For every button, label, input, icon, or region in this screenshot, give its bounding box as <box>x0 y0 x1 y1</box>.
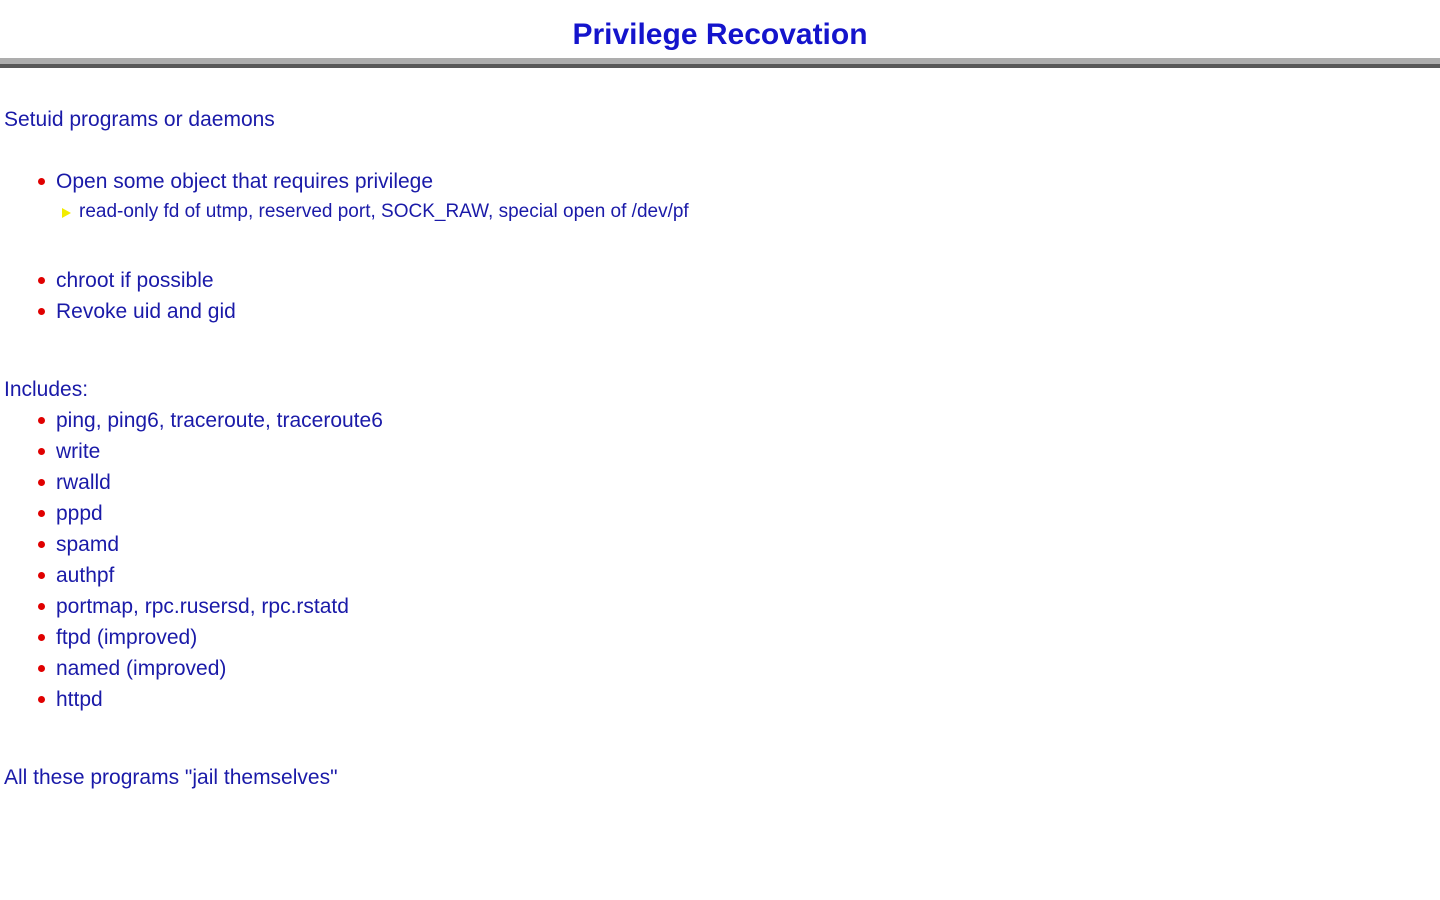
intro-heading: Setuid programs or daemons <box>0 104 1440 135</box>
list-item-label: portmap, rpc.rusersd, rpc.rstatd <box>56 595 349 618</box>
bullet-dot-icon <box>38 417 45 424</box>
setuid-steps-list-continued: chroot if possible Revoke uid and gid <box>0 265 1440 327</box>
list-item-label: ping, ping6, traceroute, traceroute6 <box>56 409 383 432</box>
list-item-label: pppd <box>56 502 103 525</box>
includes-list: ping, ping6, traceroute, traceroute6 wri… <box>0 405 1440 715</box>
title-divider-dark-band <box>0 64 1440 68</box>
sub-list-item-label: read-only fd of utmp, reserved port, SOC… <box>79 201 689 222</box>
bullet-dot-icon <box>38 572 45 579</box>
list-item-label: authpf <box>56 564 114 587</box>
list-item-label: httpd <box>56 688 103 711</box>
spacer <box>0 358 1440 374</box>
bullet-dot-icon <box>38 308 45 315</box>
slide-title: Privilege Recovation <box>0 16 1440 54</box>
list-item: chroot if possible <box>0 265 1440 296</box>
list-item: ftpd (improved) <box>0 622 1440 653</box>
list-item: Open some object that requires privilege <box>0 166 1440 197</box>
bullet-dot-icon <box>38 634 45 641</box>
sub-list-item: read-only fd of utmp, reserved port, SOC… <box>0 197 1440 227</box>
setuid-steps-list: Open some object that requires privilege <box>0 166 1440 197</box>
list-item-label: named (improved) <box>56 657 226 680</box>
list-item-label: spamd <box>56 533 119 556</box>
list-item: Revoke uid and gid <box>0 296 1440 327</box>
bullet-triangle-icon <box>62 208 71 218</box>
list-item-label: ftpd (improved) <box>56 626 197 649</box>
bullet-dot-icon <box>38 541 45 548</box>
includes-heading: Includes: <box>0 374 1440 405</box>
spacer <box>0 746 1440 762</box>
bullet-dot-icon <box>38 510 45 517</box>
list-item: spamd <box>0 529 1440 560</box>
title-divider <box>0 58 1440 68</box>
slide-body: Setuid programs or daemons Open some obj… <box>0 104 1440 793</box>
closing-line: All these programs "jail themselves" <box>0 762 1440 793</box>
list-item: authpf <box>0 560 1440 591</box>
list-item-label: Revoke uid and gid <box>56 300 236 323</box>
bullet-dot-icon <box>38 696 45 703</box>
spacer <box>0 227 1440 265</box>
spacer <box>0 135 1440 166</box>
list-item-label: write <box>56 440 100 463</box>
list-item: named (improved) <box>0 653 1440 684</box>
bullet-dot-icon <box>38 448 45 455</box>
setuid-substeps-list: read-only fd of utmp, reserved port, SOC… <box>0 197 1440 227</box>
list-item-label: chroot if possible <box>56 269 214 292</box>
spacer <box>0 715 1440 746</box>
list-item-label: rwalld <box>56 471 111 494</box>
bullet-dot-icon <box>38 178 45 185</box>
spacer <box>0 327 1440 358</box>
list-item: portmap, rpc.rusersd, rpc.rstatd <box>0 591 1440 622</box>
bullet-dot-icon <box>38 665 45 672</box>
bullet-dot-icon <box>38 479 45 486</box>
list-item: ping, ping6, traceroute, traceroute6 <box>0 405 1440 436</box>
bullet-dot-icon <box>38 603 45 610</box>
list-item: httpd <box>0 684 1440 715</box>
list-item: pppd <box>0 498 1440 529</box>
list-item: write <box>0 436 1440 467</box>
bullet-dot-icon <box>38 277 45 284</box>
list-item-label: Open some object that requires privilege <box>56 170 433 193</box>
list-item: rwalld <box>0 467 1440 498</box>
